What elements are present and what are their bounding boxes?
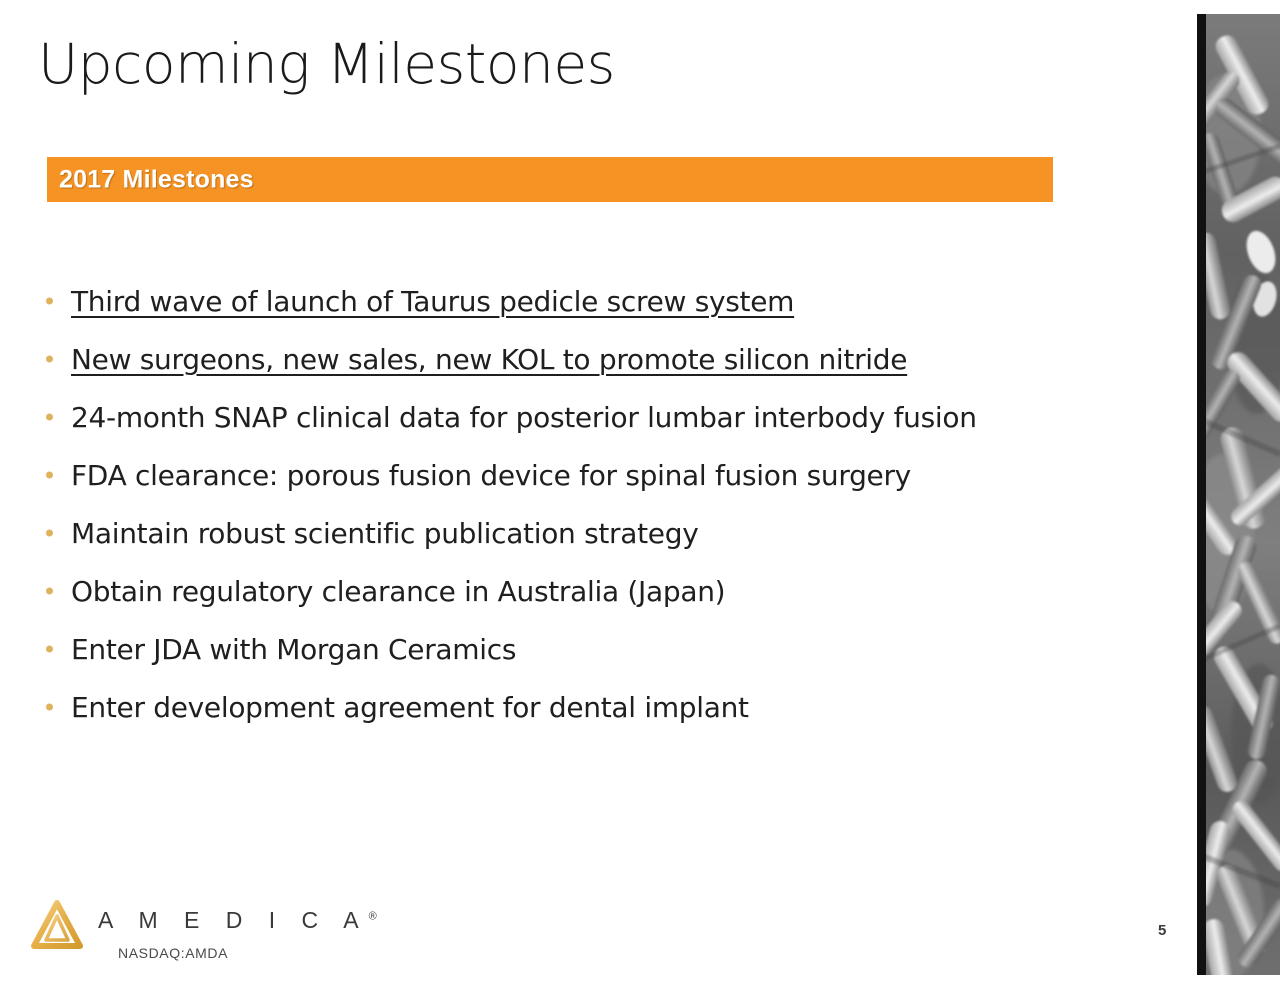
- bullet-dot-icon: [46, 588, 53, 595]
- bullet-dot-icon: [46, 414, 53, 421]
- page-title: Upcoming Milestones: [38, 36, 615, 94]
- list-item-label: Maintain robust scientific publication s…: [71, 517, 698, 550]
- list-item: Third wave of launch of Taurus pedicle s…: [40, 272, 1140, 330]
- bullet-dot-icon: [46, 472, 53, 479]
- sem-micrograph-image: [1197, 14, 1280, 975]
- list-item: New surgeons, new sales, new KOL to prom…: [40, 330, 1140, 388]
- list-item-label: Enter development agreement for dental i…: [71, 691, 749, 724]
- logo-wordmark-text: A M E D I C A: [98, 907, 369, 933]
- section-banner: 2017 Milestones: [47, 157, 1053, 202]
- list-item-label: New surgeons, new sales, new KOL to prom…: [71, 343, 907, 376]
- sem-image-left-border: [1197, 14, 1206, 975]
- bullet-dot-icon: [46, 298, 53, 305]
- triangle-icon: [30, 899, 84, 951]
- list-item-label: 24-month SNAP clinical data for posterio…: [71, 401, 977, 434]
- list-item: FDA clearance: porous fusion device for …: [40, 446, 1140, 504]
- registered-trademark-icon: ®: [369, 910, 377, 922]
- bullet-dot-icon: [46, 530, 53, 537]
- list-item: Enter development agreement for dental i…: [40, 678, 1140, 736]
- list-item: Obtain regulatory clearance in Australia…: [40, 562, 1140, 620]
- list-item: Maintain robust scientific publication s…: [40, 504, 1140, 562]
- list-item: 24-month SNAP clinical data for posterio…: [40, 388, 1140, 446]
- list-item-label: Obtain regulatory clearance in Australia…: [71, 575, 725, 608]
- bullet-dot-icon: [46, 356, 53, 363]
- list-item-label: Third wave of launch of Taurus pedicle s…: [71, 285, 794, 318]
- milestones-list: Third wave of launch of Taurus pedicle s…: [40, 272, 1140, 736]
- company-logo: A M E D I C A® NASDAQ:AMDA: [30, 897, 290, 979]
- list-item: Enter JDA with Morgan Ceramics: [40, 620, 1140, 678]
- list-item-label: Enter JDA with Morgan Ceramics: [71, 633, 516, 666]
- bullet-dot-icon: [46, 704, 53, 711]
- logo-ticker: NASDAQ:AMDA: [118, 945, 228, 961]
- logo-wordmark: A M E D I C A®: [98, 907, 377, 934]
- bullet-dot-icon: [46, 646, 53, 653]
- list-item-label: FDA clearance: porous fusion device for …: [71, 459, 911, 492]
- section-banner-label: 2017 Milestones: [59, 165, 254, 194]
- slide-canvas: Upcoming Milestones 2017 Milestones Thir…: [0, 0, 1280, 989]
- page-number: 5: [1158, 922, 1166, 939]
